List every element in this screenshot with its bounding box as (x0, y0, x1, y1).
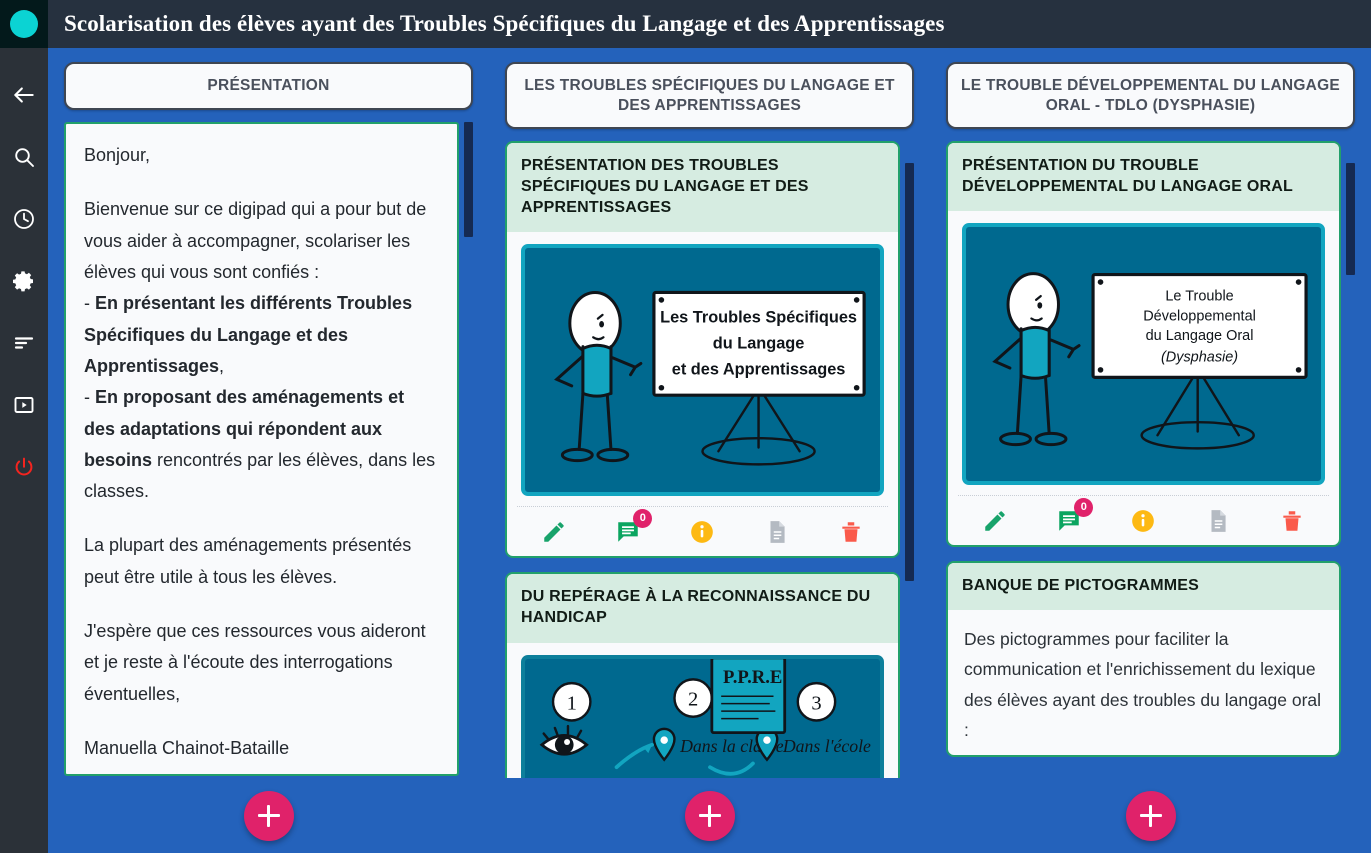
comment-icon[interactable]: 0 (1049, 501, 1089, 541)
card-paragraph: Bonjour, (84, 140, 439, 171)
card-body-text: Des pictogrammes pour faciliter la commu… (948, 610, 1339, 754)
step-label-2: Dans l'école (782, 736, 871, 756)
card-title: PRÉSENTATION DES TROUBLES SPÉCIFIQUES DU… (507, 143, 898, 232)
stickman-board-illustration: Les Troubles Spécifiques du Langage et d… (525, 248, 880, 492)
card-paragraph: La plupart des aménagements présentés pe… (84, 530, 439, 593)
gear-icon[interactable] (4, 262, 44, 300)
step-number-1: 1 (567, 692, 577, 714)
add-button-row (48, 778, 1371, 853)
page-title: Scolarisation des élèves ayant des Troub… (48, 11, 945, 37)
card-title: DU REPÉRAGE À LA RECONNAISSANCE DU HANDI… (507, 574, 898, 642)
body-text: Bonjour, (84, 145, 150, 165)
step-number-2: 2 (688, 688, 698, 710)
digipad-app: Scolarisation des élèves ayant des Troub… (0, 0, 1371, 853)
body-text: J'espère que ces ressources vous aideron… (84, 621, 426, 704)
left-sidebar (0, 48, 48, 853)
card-paragraph: Des pictogrammes pour faciliter la commu… (964, 624, 1323, 744)
column-header-3[interactable]: LE TROUBLE DÉVELOPPEMENTAL DU LANGAGE OR… (946, 62, 1355, 129)
app-logo[interactable] (0, 0, 48, 48)
emphasis-text: En présentant les différents Troubles Sp… (84, 293, 412, 376)
info-icon[interactable] (682, 512, 722, 552)
body-text: - (84, 387, 95, 407)
card-presentation-tsla[interactable]: PRÉSENTATION DES TROUBLES SPÉCIFIQUES DU… (505, 141, 900, 558)
comment-count-badge: 0 (1074, 498, 1093, 517)
board-line-2: du Langage (713, 335, 805, 353)
board-line-1: Les Troubles Spécifiques (660, 309, 857, 327)
body-text: , (219, 356, 224, 376)
card-illustration: Le Trouble Développemental du Langage Or… (948, 211, 1339, 495)
card-paragraph: Manuella Chainot-Bataille (84, 733, 439, 764)
board-line-4: (Dysphasie) (1161, 350, 1238, 366)
play-box-icon[interactable] (4, 386, 44, 424)
board-line-3: du Langage Oral (1146, 328, 1254, 344)
body-text: Manuella Chainot-Bataille (84, 738, 289, 758)
board-line-1: Le Trouble (1165, 289, 1233, 305)
add-cell-3 (930, 778, 1371, 853)
plus-icon[interactable] (685, 791, 735, 841)
card-paragraph: Bienvenue sur ce digipad qui a pour but … (84, 194, 439, 507)
pencil-icon[interactable] (534, 512, 574, 552)
body-text: Bienvenue sur ce digipad qui a pour but … (84, 199, 426, 282)
plus-icon[interactable] (1126, 791, 1176, 841)
list-icon[interactable] (4, 324, 44, 362)
column-body-1: Bonjour,Bienvenue sur ce digipad qui a p… (64, 122, 473, 853)
circle-logo-icon (10, 10, 38, 38)
card-illustration: Les Troubles Spécifiques du Langage et d… (507, 232, 898, 506)
body-text: - (84, 293, 95, 313)
add-cell-1 (48, 778, 489, 853)
search-icon[interactable] (4, 138, 44, 176)
column-scrollbar-1[interactable] (464, 122, 473, 237)
column-header-1[interactable]: PRÉSENTATION (64, 62, 473, 110)
column-tdlo: LE TROUBLE DÉVELOPPEMENTAL DU LANGAGE OR… (930, 48, 1371, 853)
add-card-button-1[interactable] (244, 791, 294, 841)
card-action-bar: 0 (958, 495, 1329, 545)
column-tsla: LES TROUBLES SPÉCIFIQUES DU LANGAGE ET D… (489, 48, 930, 853)
trash-icon[interactable] (1272, 501, 1312, 541)
info-icon[interactable] (1123, 501, 1163, 541)
column-body-3: PRÉSENTATION DU TROUBLE DÉVELOPPEMENTAL … (946, 141, 1355, 853)
card-presentation-tdlo[interactable]: PRÉSENTATION DU TROUBLE DÉVELOPPEMENTAL … (946, 141, 1341, 547)
card-paragraph: J'espère que ces ressources vous aideron… (84, 616, 439, 710)
column-scrollbar-3[interactable] (1346, 163, 1355, 275)
board: PRÉSENTATION Bonjour,Bienvenue sur ce di… (48, 48, 1371, 853)
add-cell-2 (489, 778, 930, 853)
power-icon[interactable] (4, 448, 44, 486)
card-banque-pictogrammes[interactable]: BANQUE DE PICTOGRAMMES Des pictogrammes … (946, 561, 1341, 756)
step-number-3: 3 (811, 692, 821, 714)
column-header-2[interactable]: LES TROUBLES SPÉCIFIQUES DU LANGAGE ET D… (505, 62, 914, 129)
body-text: La plupart des aménagements présentés pe… (84, 535, 411, 586)
stickman-board-illustration: Le Trouble Développemental du Langage Or… (966, 227, 1321, 481)
card-title: BANQUE DE PICTOGRAMMES (948, 563, 1339, 610)
column-scrollbar-2[interactable] (905, 163, 914, 581)
clock-icon[interactable] (4, 200, 44, 238)
add-card-button-2[interactable] (685, 791, 735, 841)
card-action-bar: 0 (517, 506, 888, 556)
add-card-button-3[interactable] (1126, 791, 1176, 841)
comment-count-badge: 0 (633, 509, 652, 528)
column-body-2: PRÉSENTATION DES TROUBLES SPÉCIFIQUES DU… (505, 141, 914, 853)
document-icon[interactable] (757, 512, 797, 552)
plus-icon[interactable] (244, 791, 294, 841)
pencil-icon[interactable] (975, 501, 1015, 541)
trash-icon[interactable] (831, 512, 871, 552)
document-icon[interactable] (1198, 501, 1238, 541)
board-line-3: et des Apprentissages (672, 361, 846, 379)
comment-icon[interactable]: 0 (608, 512, 648, 552)
board-line-2: Développemental (1143, 309, 1256, 325)
top-bar: Scolarisation des élèves ayant des Troub… (0, 0, 1371, 48)
text-card[interactable]: Bonjour,Bienvenue sur ce digipad qui a p… (64, 122, 459, 776)
booklet-label: P.P.R.E (723, 667, 782, 688)
column-presentation: PRÉSENTATION Bonjour,Bienvenue sur ce di… (48, 48, 489, 853)
card-title: PRÉSENTATION DU TROUBLE DÉVELOPPEMENTAL … (948, 143, 1339, 211)
back-arrow-icon[interactable] (4, 76, 44, 114)
